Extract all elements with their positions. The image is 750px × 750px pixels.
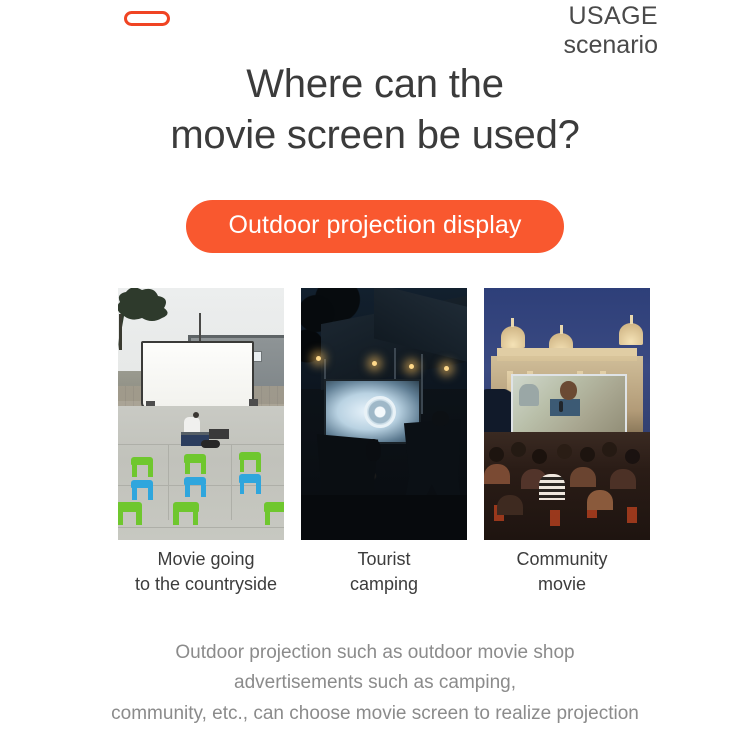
gallery-captions: Movie going to the countryside Tourist c… xyxy=(118,547,650,597)
stool-leg xyxy=(193,511,199,525)
eyebrow-line-2: scenario xyxy=(564,31,659,60)
caption-community-line-1: Community xyxy=(474,547,650,572)
caption-countryside: Movie going to the countryside xyxy=(118,547,294,597)
gallery-photo-community[interactable] xyxy=(484,288,650,540)
plastic-stool xyxy=(184,477,206,497)
gallery-photo-countryside[interactable] xyxy=(118,288,284,540)
stool-leg xyxy=(148,487,153,499)
building-dome xyxy=(501,326,525,348)
crowd-shoulders xyxy=(570,467,596,487)
header-row: USAGE scenario xyxy=(0,0,750,60)
plastic-stool xyxy=(131,480,153,500)
projected-figure-body xyxy=(550,399,580,416)
pill-outline-icon xyxy=(124,11,170,26)
crowd-shoulders xyxy=(484,464,510,484)
stool-leg xyxy=(256,459,261,471)
stool-leg xyxy=(265,511,271,525)
crowd-head xyxy=(511,442,526,457)
stool-leg xyxy=(185,462,190,474)
crowd-striped-shirt xyxy=(539,474,565,500)
stool-leg xyxy=(148,464,153,476)
crowd-shoulders xyxy=(497,495,523,515)
plastic-stool xyxy=(239,474,261,494)
plastic-stool xyxy=(118,502,142,525)
plastic-stool xyxy=(264,502,284,525)
building-dome xyxy=(619,323,643,345)
crowd-head xyxy=(580,447,595,462)
dark-ground xyxy=(301,495,467,540)
scenario-gallery xyxy=(118,288,650,540)
projected-microphone xyxy=(559,401,563,412)
street-lamp-glow xyxy=(444,366,449,371)
crowd-shoulders xyxy=(587,490,613,510)
stool-leg xyxy=(136,511,142,525)
equipment-bag xyxy=(201,440,220,448)
caption-camping-line-1: Tourist xyxy=(296,547,472,572)
footer-description: Outdoor projection such as outdoor movie… xyxy=(0,638,750,729)
stool-leg xyxy=(256,482,261,494)
caption-community-line-2: movie xyxy=(474,572,650,597)
viewer-head xyxy=(432,411,449,426)
stool-leg xyxy=(173,511,179,525)
stool-leg xyxy=(132,464,137,476)
caption-camping-line-2: camping xyxy=(296,572,472,597)
canopy-pole xyxy=(421,354,423,414)
cta-container: Outdoor projection display xyxy=(0,200,750,253)
projected-figure-secondary xyxy=(519,384,539,406)
page-title-line-2: movie screen be used? xyxy=(0,110,750,161)
stool-leg xyxy=(132,487,137,499)
plastic-stool xyxy=(131,457,153,477)
stool-leg xyxy=(240,482,245,494)
caption-camping: Tourist camping xyxy=(296,547,472,597)
page-title: Where can the movie screen be used? xyxy=(0,59,750,161)
eyebrow-line-1: USAGE xyxy=(564,2,659,31)
footer-line-3: community, etc., can choose movie screen… xyxy=(0,699,750,729)
stool-leg xyxy=(201,462,206,474)
page-title-line-1: Where can the xyxy=(0,59,750,110)
caption-countryside-line-2: to the countryside xyxy=(118,572,294,597)
footer-line-2: advertisements such as camping, xyxy=(0,668,750,698)
stool-leg xyxy=(240,459,245,471)
crowd-shoulders xyxy=(610,469,636,489)
plastic-chair xyxy=(627,507,637,523)
crowd-head xyxy=(602,442,617,457)
plastic-chair xyxy=(550,510,560,526)
plastic-stool xyxy=(239,452,261,472)
stool-leg xyxy=(185,485,190,497)
ground-seam xyxy=(168,444,169,520)
ground-seam xyxy=(231,444,232,520)
stool-leg xyxy=(118,511,123,525)
eyebrow-label: USAGE scenario xyxy=(564,2,659,60)
caption-community: Community movie xyxy=(474,547,650,597)
projection-screen xyxy=(141,341,254,409)
outdoor-projection-display-button[interactable]: Outdoor projection display xyxy=(186,200,563,253)
viewer-head xyxy=(366,439,381,461)
stool-leg xyxy=(201,485,206,497)
street-lamp-glow xyxy=(409,364,414,369)
street-lamp-glow xyxy=(316,356,321,361)
gallery-photo-camping[interactable] xyxy=(301,288,467,540)
equipment-case xyxy=(209,429,229,439)
ground-seam xyxy=(118,527,284,528)
plastic-stool xyxy=(184,454,206,474)
caption-countryside-line-1: Movie going xyxy=(118,547,294,572)
crowd-head xyxy=(489,447,504,462)
plastic-stool xyxy=(173,502,199,525)
footer-line-1: Outdoor projection such as outdoor movie… xyxy=(0,638,750,668)
